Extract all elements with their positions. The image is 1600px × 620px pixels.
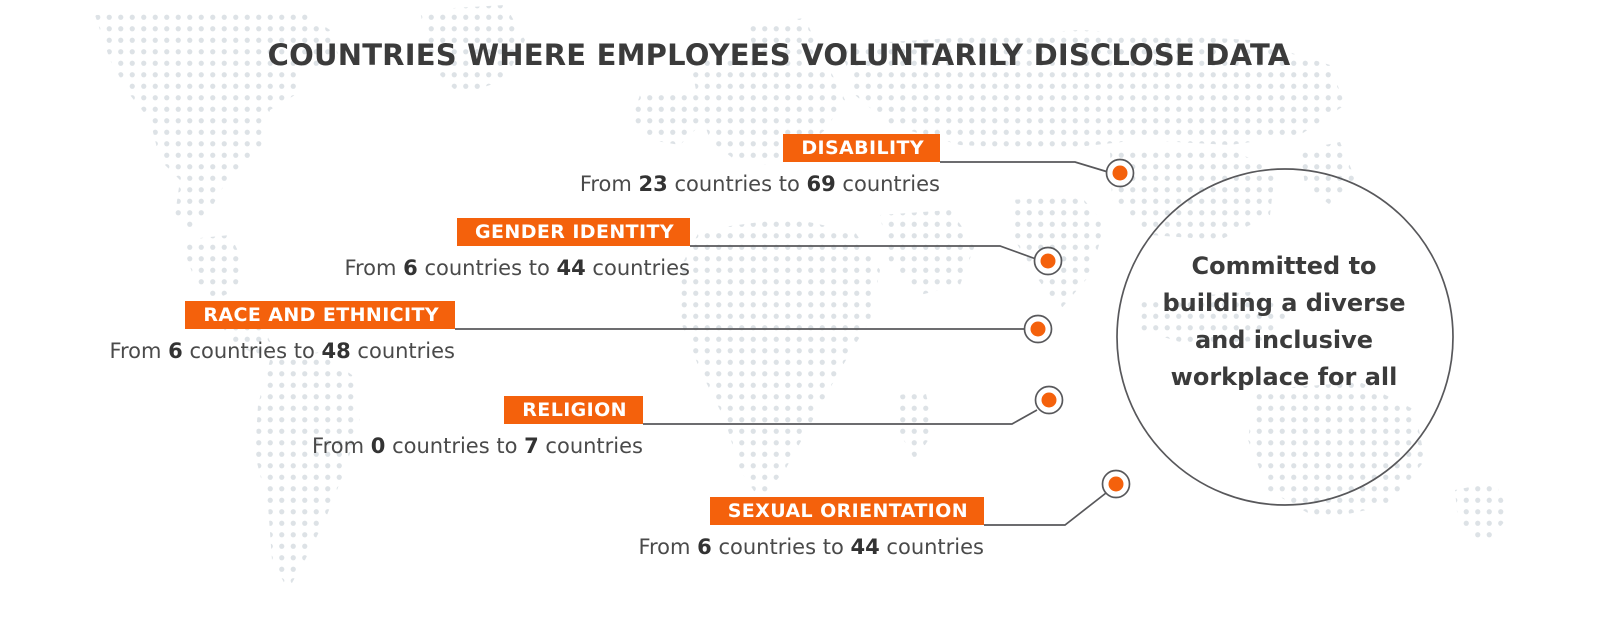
stat-to-value: 7 — [524, 434, 539, 458]
entry-stat-disability: From 23 countries to 69 countries — [470, 171, 940, 197]
entry-label-disability[interactable]: DISABILITY — [783, 134, 940, 162]
hub-statement-line-2: building a diverse — [1128, 285, 1440, 322]
hub-statement-line-1: Committed to — [1128, 248, 1440, 285]
stat-from-word: From — [344, 256, 396, 280]
stat-to-word: countries — [545, 434, 643, 458]
infographic-canvas: COUNTRIES WHERE EMPLOYEES VOLUNTARILY DI… — [0, 0, 1600, 620]
connector-gender-identity — [690, 246, 1036, 259]
connector-religion — [643, 410, 1037, 424]
node-dot-gender-identity — [1035, 248, 1062, 275]
stat-from-value: 23 — [639, 172, 668, 196]
stat-from-word: From — [312, 434, 364, 458]
stat-to-value: 44 — [851, 535, 880, 559]
entry-label-gender-identity[interactable]: GENDER IDENTITY — [457, 218, 690, 246]
stat-from-value: 0 — [371, 434, 386, 458]
node-dot-disability — [1107, 160, 1134, 187]
stat-to-word: countries — [592, 256, 690, 280]
stat-middle: countries to — [674, 172, 799, 196]
stat-to-word: countries — [842, 172, 940, 196]
stat-middle: countries to — [424, 256, 549, 280]
entry-religion[interactable]: RELIGION From 0 countries to 7 countries — [200, 396, 643, 459]
stat-from-value: 6 — [697, 535, 712, 559]
entry-label-race-and-ethnicity[interactable]: RACE AND ETHNICITY — [185, 301, 455, 329]
hub-statement-line-3: and inclusive — [1128, 322, 1440, 359]
stat-middle: countries to — [718, 535, 843, 559]
entry-label-sexual-orientation[interactable]: SEXUAL ORIENTATION — [710, 497, 984, 525]
entry-race-and-ethnicity[interactable]: RACE AND ETHNICITY From 6 countries to 4… — [0, 301, 455, 364]
entry-stat-sexual-orientation: From 6 countries to 44 countries — [520, 534, 984, 560]
stat-middle: countries to — [392, 434, 517, 458]
entry-stat-race-and-ethnicity: From 6 countries to 48 countries — [0, 338, 455, 364]
entry-label-religion[interactable]: RELIGION — [504, 396, 643, 424]
node-dot-sexual-orientation — [1103, 471, 1130, 498]
stat-to-value: 48 — [322, 339, 351, 363]
stat-from-value: 6 — [168, 339, 183, 363]
connector-disability — [940, 162, 1108, 172]
stat-from-word: From — [580, 172, 632, 196]
stat-to-value: 44 — [557, 256, 586, 280]
stat-to-value: 69 — [807, 172, 836, 196]
entry-stat-religion: From 0 countries to 7 countries — [200, 433, 643, 459]
entry-stat-gender-identity: From 6 countries to 44 countries — [220, 255, 690, 281]
hub-statement-line-4: workplace for all — [1128, 359, 1440, 396]
entry-sexual-orientation[interactable]: SEXUAL ORIENTATION From 6 countries to 4… — [520, 497, 984, 560]
stat-from-word: From — [109, 339, 161, 363]
stat-middle: countries to — [189, 339, 314, 363]
stat-from-value: 6 — [403, 256, 418, 280]
stat-to-word: countries — [357, 339, 455, 363]
stat-from-word: From — [638, 535, 690, 559]
hub-statement: Committed to building a diverse and incl… — [1128, 248, 1440, 396]
stat-to-word: countries — [886, 535, 984, 559]
node-dot-religion — [1036, 387, 1063, 414]
page-title: COUNTRIES WHERE EMPLOYEES VOLUNTARILY DI… — [0, 38, 1558, 72]
entry-gender-identity[interactable]: GENDER IDENTITY From 6 countries to 44 c… — [220, 218, 690, 281]
node-dot-race-and-ethnicity — [1025, 316, 1052, 343]
connector-sexual-orientation — [984, 493, 1106, 525]
entry-disability[interactable]: DISABILITY From 23 countries to 69 count… — [470, 134, 940, 197]
